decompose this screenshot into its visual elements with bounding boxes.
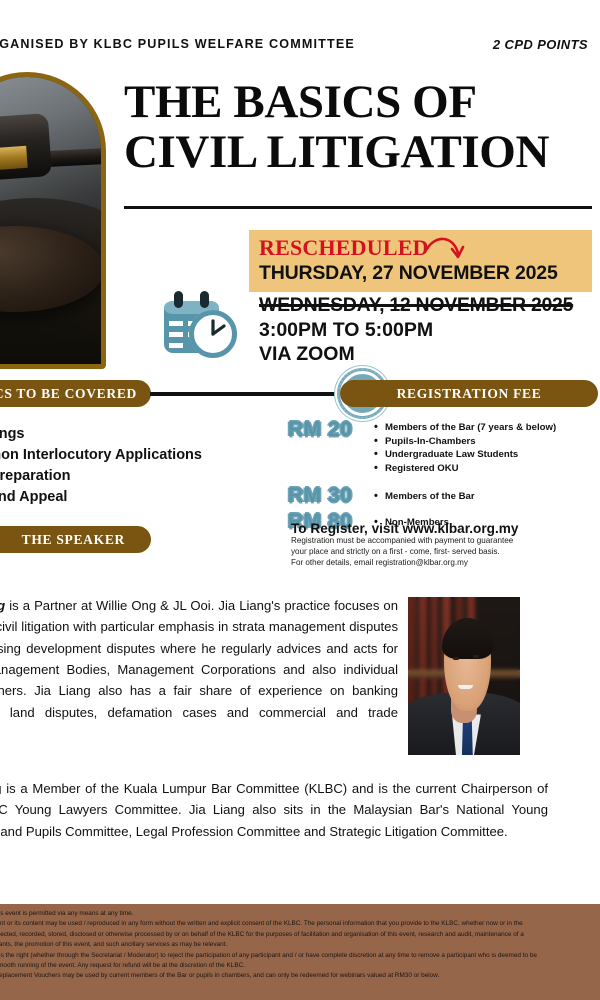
fee-item: Registered OKU	[374, 462, 600, 476]
fee-item: Members of the Bar	[374, 490, 600, 504]
section-label-registration-fee: REGISTRATION FEE	[340, 380, 598, 407]
section-connector-line	[150, 392, 355, 396]
speaker-headshot	[408, 597, 520, 755]
section-label-speaker: THE SPEAKER	[0, 526, 151, 553]
poster-root: ORGANISED BY KLBC PUPILS WELFARE COMMITT…	[0, 0, 600, 1000]
register-note-2: your place and strictly on a first - com…	[291, 547, 591, 558]
fee-item: Members of the Bar (7 years & below)	[374, 421, 600, 435]
footer-terms: No recording of this event is permitted …	[0, 909, 600, 982]
topic-item: Trial Preparation	[0, 466, 276, 487]
topics-list: Pleadings Common Interlocutory Applicati…	[0, 424, 276, 509]
register-note-1: Registration must be accompanied with pa…	[291, 536, 591, 547]
fee-eligibility-list: Members of the Bar	[374, 484, 600, 504]
cpd-points-badge: 2 CPD POINTS	[493, 37, 588, 52]
speaker-bio-paragraph-1: Jia Liang is a Partner at Willie Ong & J…	[0, 595, 398, 744]
calendar-clock-icon	[155, 288, 241, 369]
footer-line: disruptive to the smooth running of the …	[0, 961, 600, 971]
page-title: THE BASICS OF CIVIL LITIGATION	[124, 78, 594, 178]
footer-line: KL Bar Webinar Replacement Vouchers may …	[0, 971, 600, 981]
event-time-text: 3:00PM TO 5:00PM	[259, 319, 433, 342]
header-bar: ORGANISED BY KLBC PUPILS WELFARE COMMITT…	[0, 33, 600, 55]
title-divider	[124, 206, 592, 209]
title-line-2: CIVIL LITIGATION	[124, 128, 594, 178]
rescheduled-banner: RESCHEDULED THURSDAY, 27 NOVEMBER 2025	[249, 230, 592, 292]
topic-item: Pleadings	[0, 424, 276, 445]
speaker-bio-paragraph-2: Jia Liang is a Member of the Kuala Lumpu…	[0, 778, 548, 842]
register-heading[interactable]: To Register, visit www.klbar.org.my	[291, 521, 518, 536]
footer-line: The KLBC reserves the right (whether thr…	[0, 951, 600, 961]
fee-eligibility-list: Members of the Bar (7 years & below) Pup…	[374, 418, 600, 475]
gavel-photo-image	[0, 77, 101, 364]
organiser-label: ORGANISED BY KLBC PUPILS WELFARE COMMITT…	[0, 37, 355, 51]
fee-row: RM 30 Members of the Bar	[288, 484, 600, 508]
topic-item: Trial and Appeal	[0, 487, 276, 508]
footer-line: No recording of this event is permitted …	[0, 909, 600, 919]
fee-row: RM 20 Members of the Bar (7 years & belo…	[288, 418, 600, 475]
section-label-topics: TOPICS TO BE COVERED	[0, 380, 151, 407]
rescheduled-label: RESCHEDULED	[259, 235, 429, 261]
title-line-1: THE BASICS OF	[124, 76, 477, 128]
footer-line: No part of this event or its content may…	[0, 919, 600, 929]
gavel-photo-frame	[0, 72, 106, 369]
old-date-text: WEDNESDAY, 12 NOVEMBER 2025	[259, 294, 573, 317]
registration-fee-table: RM 20 Members of the Bar (7 years & belo…	[288, 418, 600, 534]
register-note-3: For other details, email registration@kl…	[291, 558, 591, 569]
gavel-photo	[0, 72, 106, 369]
footer-line: register of participants, the promotion …	[0, 940, 600, 950]
topic-item: Common Interlocutory Applications	[0, 445, 276, 466]
fee-price: RM 20	[288, 418, 374, 442]
fee-item: Pupils-In-Chambers	[374, 435, 600, 449]
fee-price: RM 30	[288, 484, 374, 508]
new-date-text: THURSDAY, 27 NOVEMBER 2025	[259, 262, 558, 285]
event-venue-text: VIA ZOOM	[259, 343, 355, 366]
speaker-bio-rest: is a Partner at Willie Ong & JL Ooi. Jia…	[0, 598, 398, 741]
register-fine-print: Registration must be accompanied with pa…	[291, 536, 591, 568]
footer-line: future, may be collected, recorded, stor…	[0, 930, 600, 940]
footer-band: No recording of this event is permitted …	[0, 904, 600, 1000]
fee-item: Undergraduate Law Students	[374, 448, 600, 462]
